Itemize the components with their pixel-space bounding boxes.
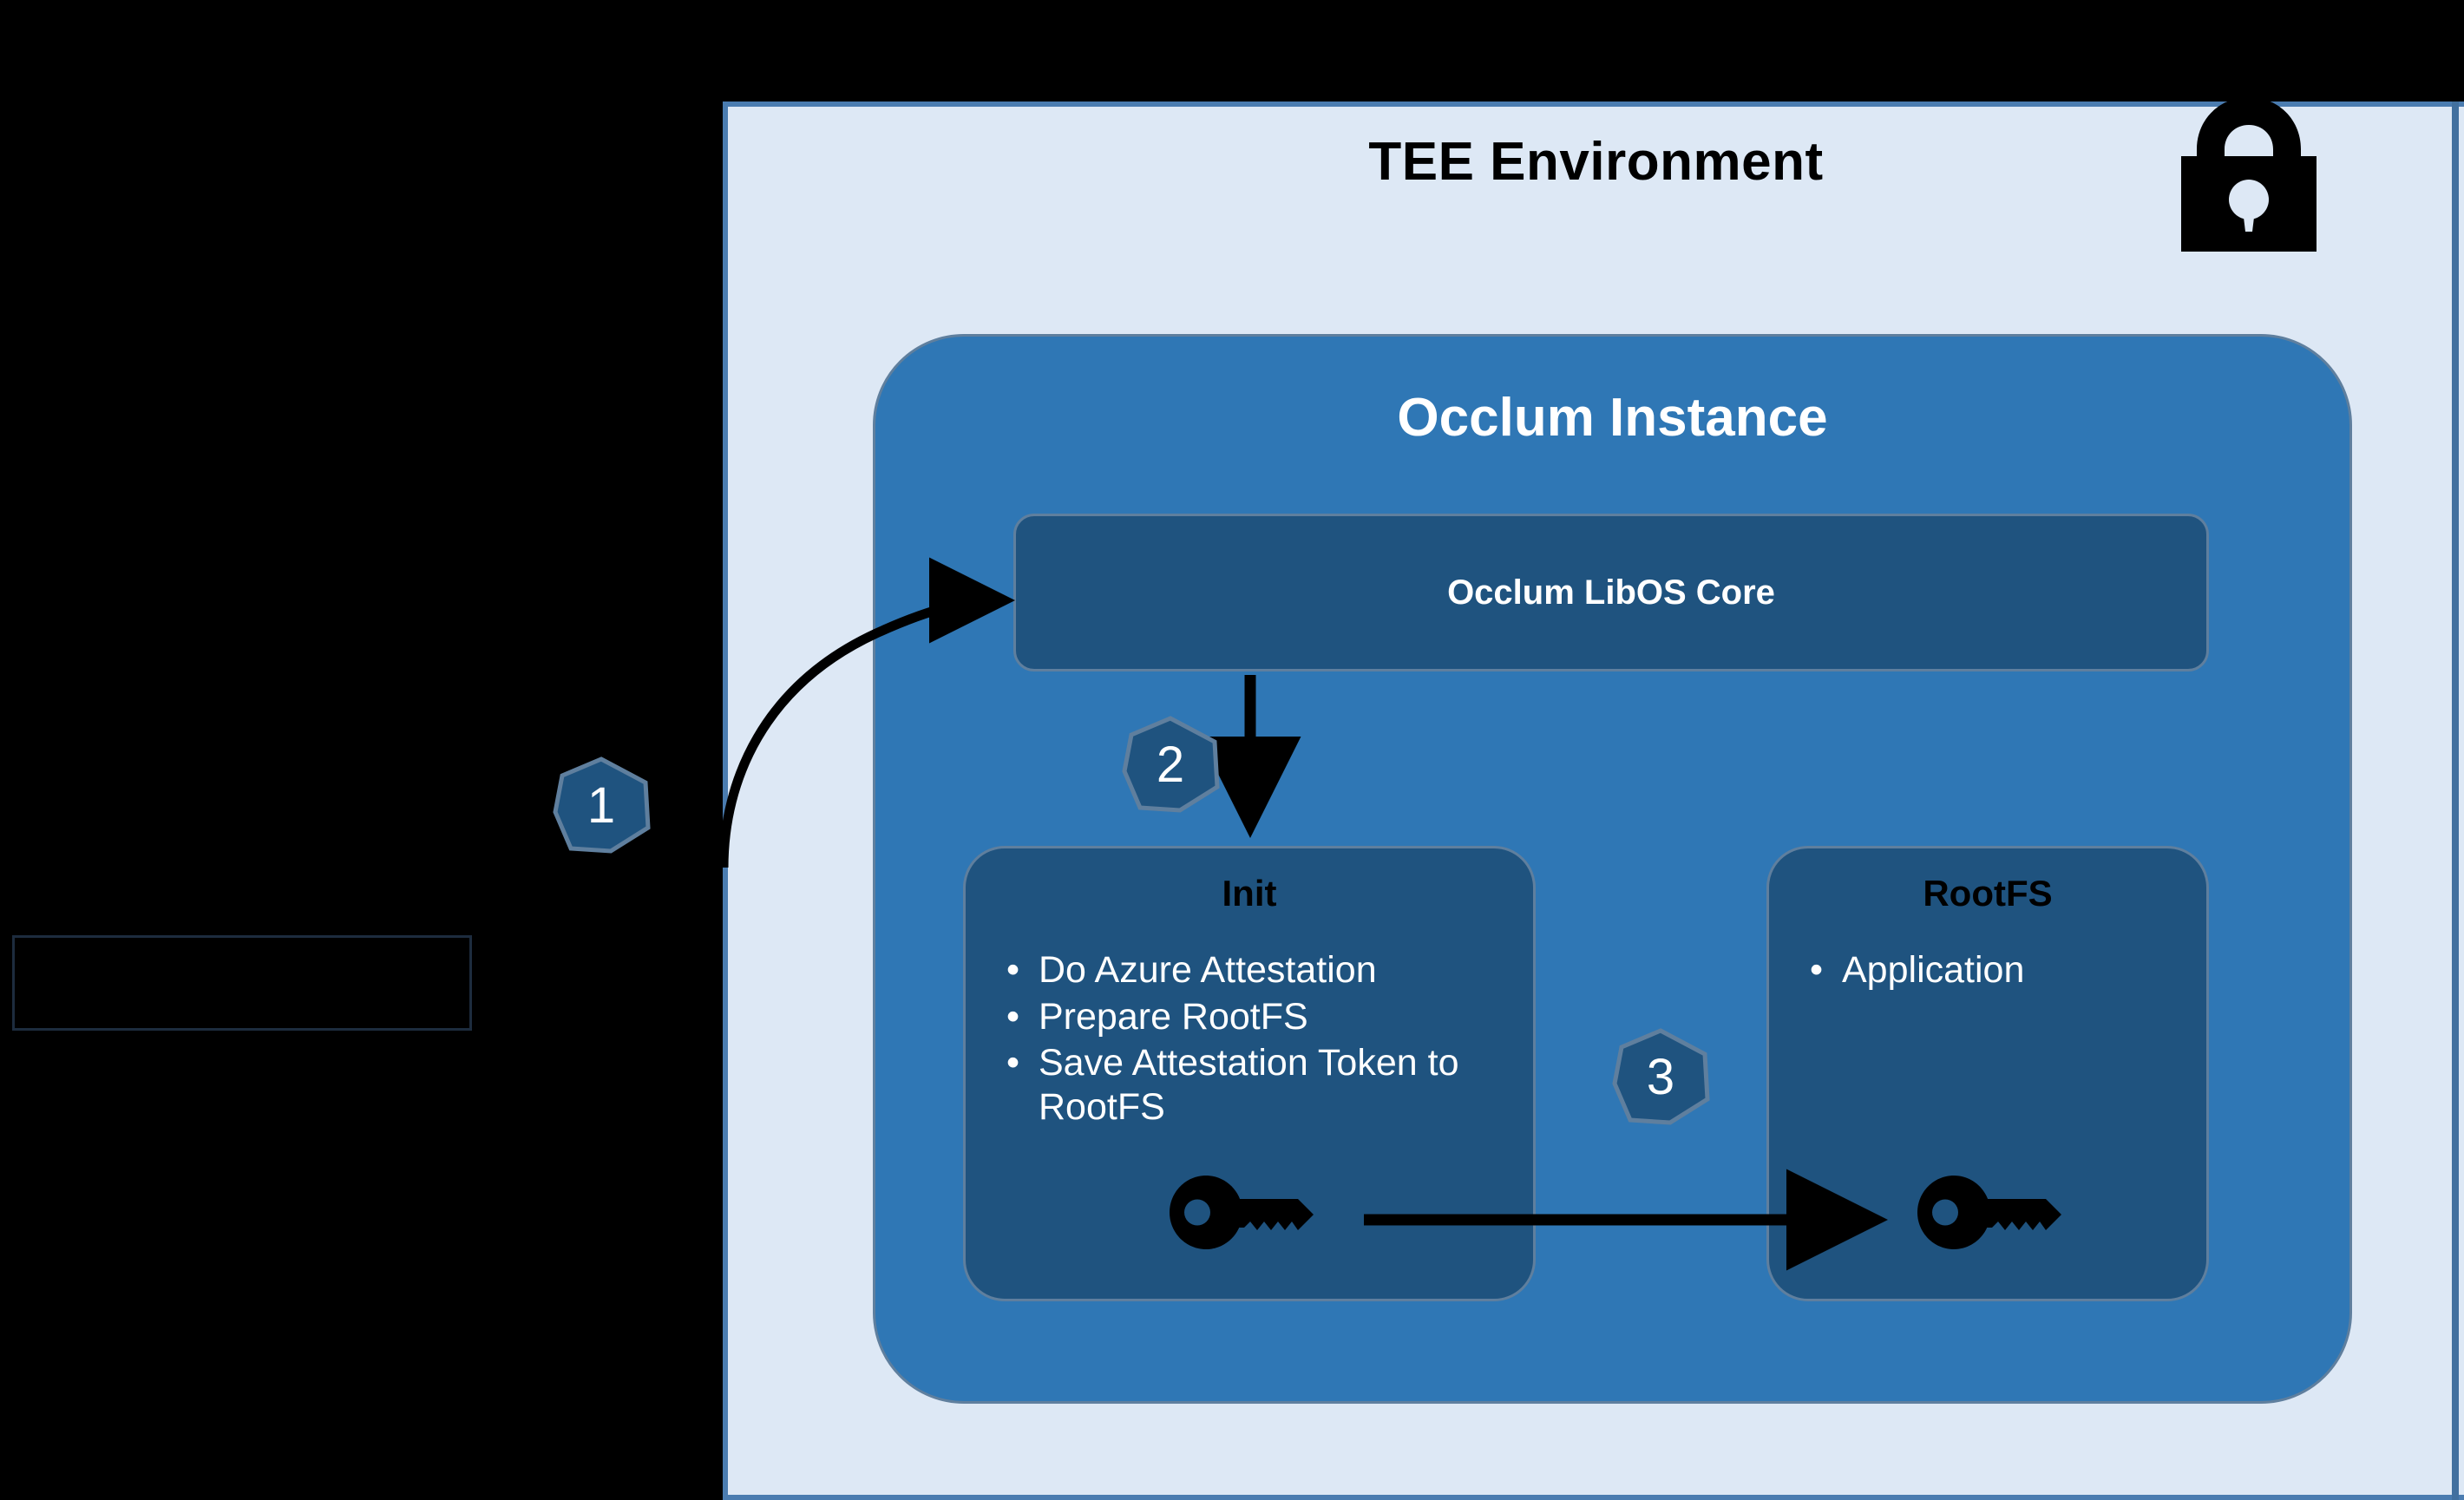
step-badge-2: 2 bbox=[1119, 716, 1222, 813]
list-item-text: Application bbox=[1842, 949, 2024, 991]
tee-environment-right-border bbox=[2452, 102, 2459, 1500]
list-item: •Do Azure Attestation bbox=[985, 948, 1523, 992]
rootfs-bullet-list: •Application bbox=[1788, 948, 2196, 992]
init-bullet-list: •Do Azure Attestation •Prepare RootFS •S… bbox=[985, 948, 1523, 1132]
step-badge-1-number: 1 bbox=[550, 757, 652, 854]
occlum-instance-title: Occlum Instance bbox=[875, 387, 2349, 449]
step-badge-1: 1 bbox=[550, 757, 652, 854]
step-badge-3: 3 bbox=[1609, 1028, 1712, 1125]
list-item-text: Do Azure Attestation bbox=[1039, 949, 1377, 991]
bullet-marker: • bbox=[1810, 948, 1823, 992]
occlum-libos-core-box: Occlum LibOS Core bbox=[1013, 514, 2209, 671]
occlum-libos-core-label: Occlum LibOS Core bbox=[1447, 573, 1775, 612]
init-panel-title: Init bbox=[966, 873, 1533, 914]
list-item: •Save Attestation Token to RootFS bbox=[985, 1041, 1523, 1129]
list-item-text: Save Attestation Token to RootFS bbox=[1039, 1042, 1459, 1128]
key-icon bbox=[1917, 1176, 2069, 1249]
empty-placeholder-rect bbox=[12, 935, 472, 1031]
lock-icon bbox=[2162, 97, 2336, 252]
list-item-text: Prepare RootFS bbox=[1039, 996, 1308, 1038]
step-badge-3-number: 3 bbox=[1609, 1028, 1712, 1125]
bullet-marker: • bbox=[1006, 948, 1019, 992]
rootfs-panel-title: RootFS bbox=[1769, 873, 2206, 914]
diagram-canvas: TEE Environment Occlum Instance Occlum L… bbox=[0, 0, 2464, 1500]
step-badge-2-number: 2 bbox=[1119, 716, 1222, 813]
bullet-marker: • bbox=[1006, 995, 1019, 1039]
key-icon bbox=[1170, 1176, 1321, 1249]
list-item: •Application bbox=[1788, 948, 2196, 992]
bullet-marker: • bbox=[1006, 1041, 1019, 1085]
list-item: •Prepare RootFS bbox=[985, 995, 1523, 1039]
